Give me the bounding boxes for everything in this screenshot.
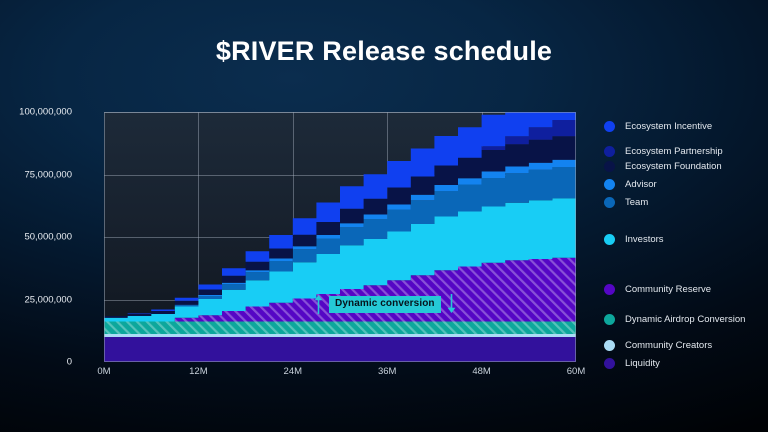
y-axis-tick-label: 100,000,000 <box>19 107 72 118</box>
legend-color-swatch-icon <box>604 146 615 157</box>
x-axis-tick-label: 48M <box>472 366 490 377</box>
legend-item[interactable]: Investors <box>604 234 664 245</box>
legend-item-label: Investors <box>625 234 664 245</box>
legend-item-label: Ecosystem Foundation <box>625 161 722 172</box>
legend-item[interactable]: Ecosystem Partnership <box>604 146 723 157</box>
legend-item-label: Liquidity <box>625 358 660 369</box>
y-axis-tick-label: 0 <box>67 357 72 368</box>
dynamic-conversion-label: Dynamic conversion <box>329 296 441 313</box>
legend-color-swatch-icon <box>604 161 615 172</box>
legend-color-swatch-icon <box>604 340 615 351</box>
legend-color-swatch-icon <box>604 197 615 208</box>
legend-item-label: Community Creators <box>625 340 712 351</box>
area-series-liquidity <box>104 337 576 362</box>
legend-item[interactable]: Dynamic Airdrop Conversion <box>604 314 745 325</box>
legend-color-swatch-icon <box>604 234 615 245</box>
legend-item-label: Dynamic Airdrop Conversion <box>625 314 745 325</box>
legend-item[interactable]: Advisor <box>604 179 657 190</box>
y-axis-tick-label: 50,000,000 <box>24 232 72 243</box>
arrow-down-icon <box>446 294 457 314</box>
x-axis-tick-label: 0M <box>97 366 110 377</box>
legend-color-swatch-icon <box>604 314 615 325</box>
plot-area <box>104 112 576 362</box>
legend-item-label: Advisor <box>625 179 657 190</box>
y-axis-tick-label: 75,000,000 <box>24 169 72 180</box>
legend-color-swatch-icon <box>604 358 615 369</box>
arrow-up-icon <box>313 294 324 314</box>
legend-color-swatch-icon <box>604 179 615 190</box>
x-axis-tick-label: 36M <box>378 366 396 377</box>
legend-item-label: Team <box>625 197 648 208</box>
stacked-area-series <box>104 112 576 362</box>
x-axis-tick-label: 12M <box>189 366 207 377</box>
chart-screen: $RIVER Release schedule Dynamic conversi… <box>0 0 768 432</box>
legend-color-swatch-icon <box>604 284 615 295</box>
area-series-dynamic-airdrop-conversion <box>104 322 576 335</box>
legend-item[interactable]: Liquidity <box>604 358 660 369</box>
legend-item[interactable]: Ecosystem Incentive <box>604 121 712 132</box>
legend-item-label: Community Reserve <box>625 284 711 295</box>
legend-item[interactable]: Ecosystem Foundation <box>604 161 722 172</box>
legend-item[interactable]: Community Reserve <box>604 284 711 295</box>
legend-item[interactable]: Community Creators <box>604 340 712 351</box>
dynamic-conversion-annotation: Dynamic conversion <box>313 294 457 314</box>
x-axis-tick-label: 24M <box>284 366 302 377</box>
x-axis-tick-label: 60M <box>567 366 585 377</box>
area-series-community-creators <box>104 334 576 337</box>
y-axis-tick-label: 25,000,000 <box>24 294 72 305</box>
legend-item-label: Ecosystem Incentive <box>625 121 712 132</box>
legend-color-swatch-icon <box>604 121 615 132</box>
legend-item-label: Ecosystem Partnership <box>625 146 723 157</box>
page-title: $RIVER Release schedule <box>0 36 768 67</box>
legend-item[interactable]: Team <box>604 197 648 208</box>
